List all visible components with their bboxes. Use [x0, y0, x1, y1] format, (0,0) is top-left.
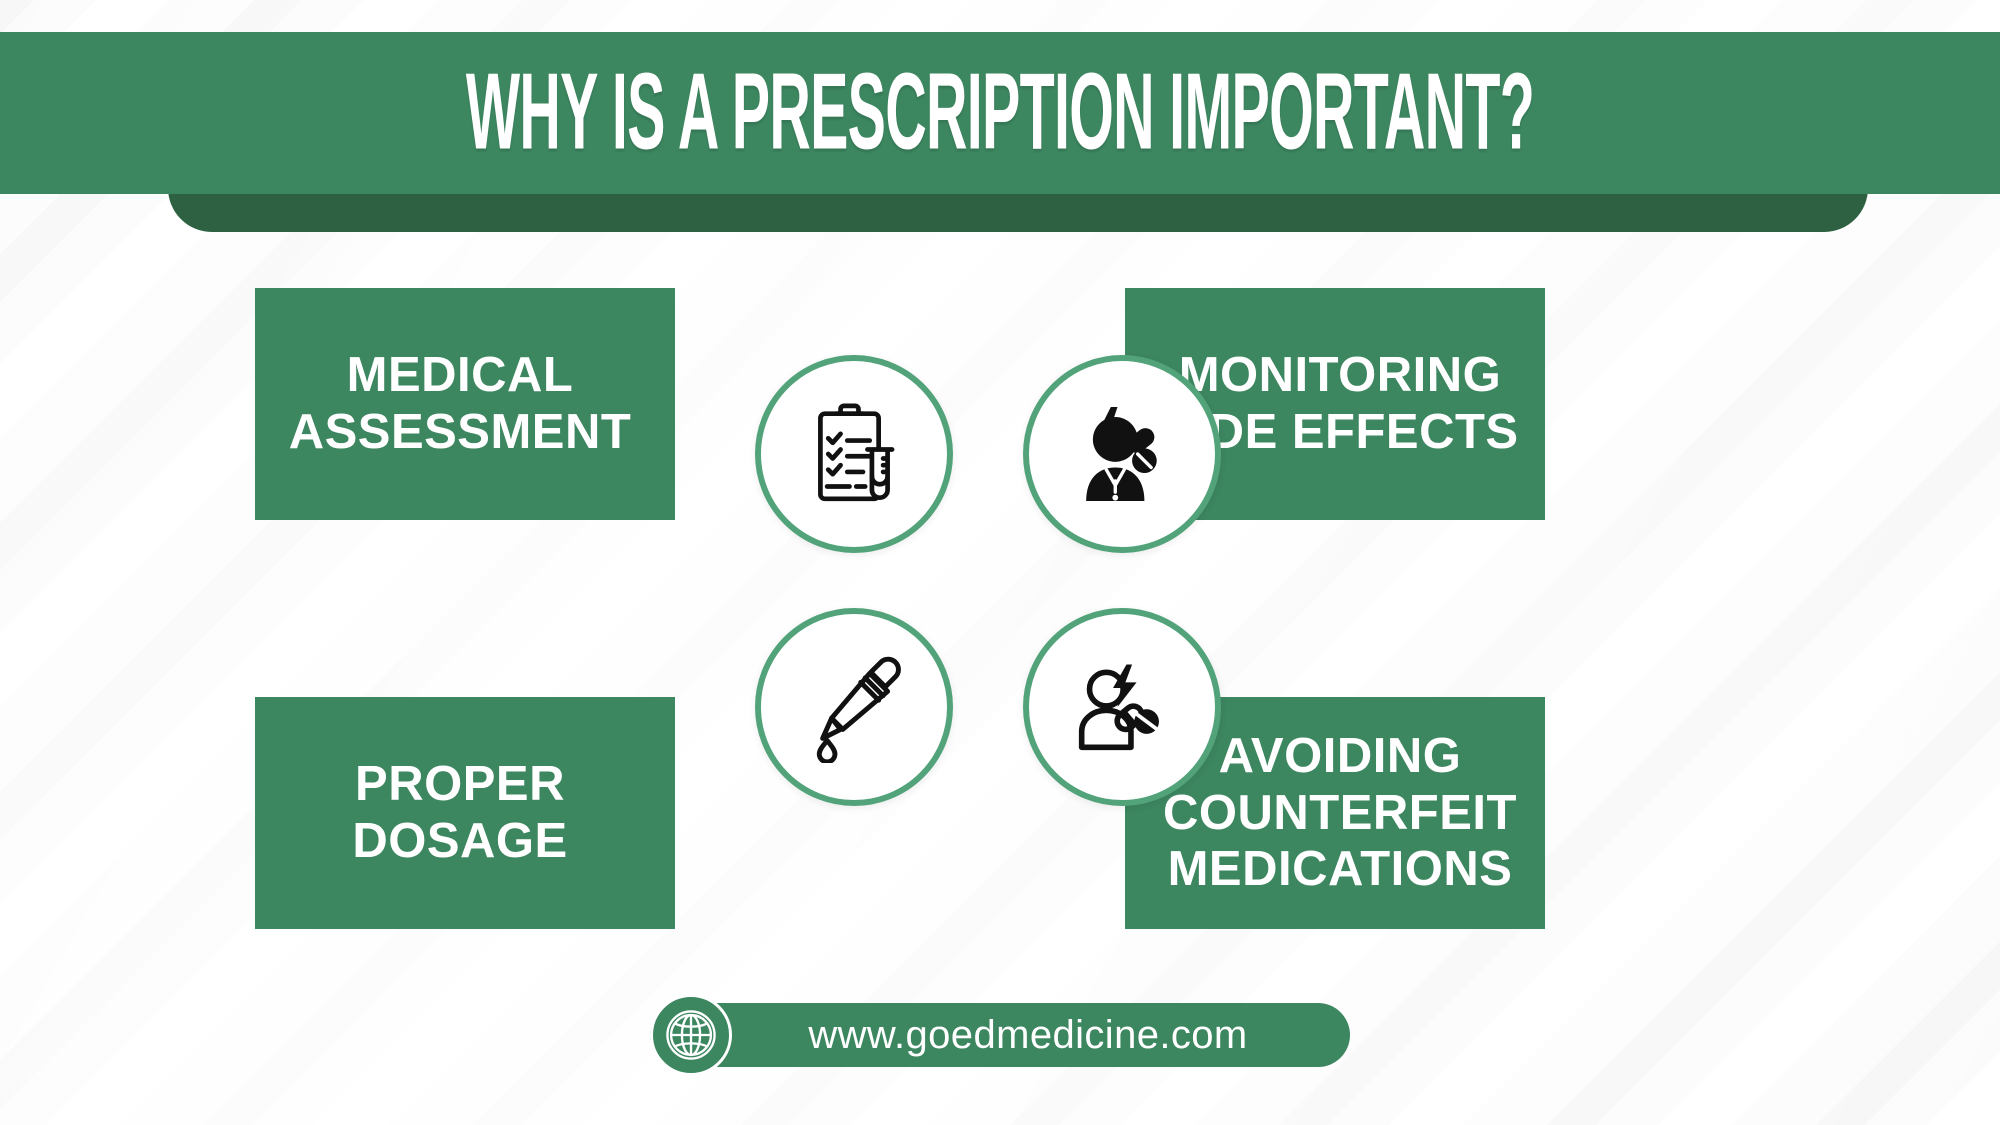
headache-person-side-effects-icon: [1023, 355, 1221, 553]
clipboard-checklist-test-tube-icon: [755, 355, 953, 553]
dropper-pipette-icon: [755, 608, 953, 806]
footer-url-text: www.goedmedicine.com: [808, 1013, 1247, 1058]
card-proper-dosage[interactable]: PROPER DOSAGE: [255, 697, 675, 929]
person-pills-warning-icon: [1023, 608, 1221, 806]
infographic-page: WHY IS A PRESCRIPTION IMPORTANT? MEDICAL…: [0, 0, 2000, 1125]
card-label-proper-dosage: PROPER DOSAGE: [255, 756, 675, 870]
page-title: WHY IS A PRESCRIPTION IMPORTANT?: [466, 59, 1534, 167]
header-band: WHY IS A PRESCRIPTION IMPORTANT?: [0, 32, 2000, 194]
globe-icon: [650, 994, 732, 1076]
footer-url-pill[interactable]: www.goedmedicine.com: [650, 1003, 1350, 1067]
card-medical-assessment[interactable]: MEDICAL ASSESSMENT: [255, 288, 675, 520]
card-label-medical-assessment: MEDICAL ASSESSMENT: [255, 347, 675, 461]
